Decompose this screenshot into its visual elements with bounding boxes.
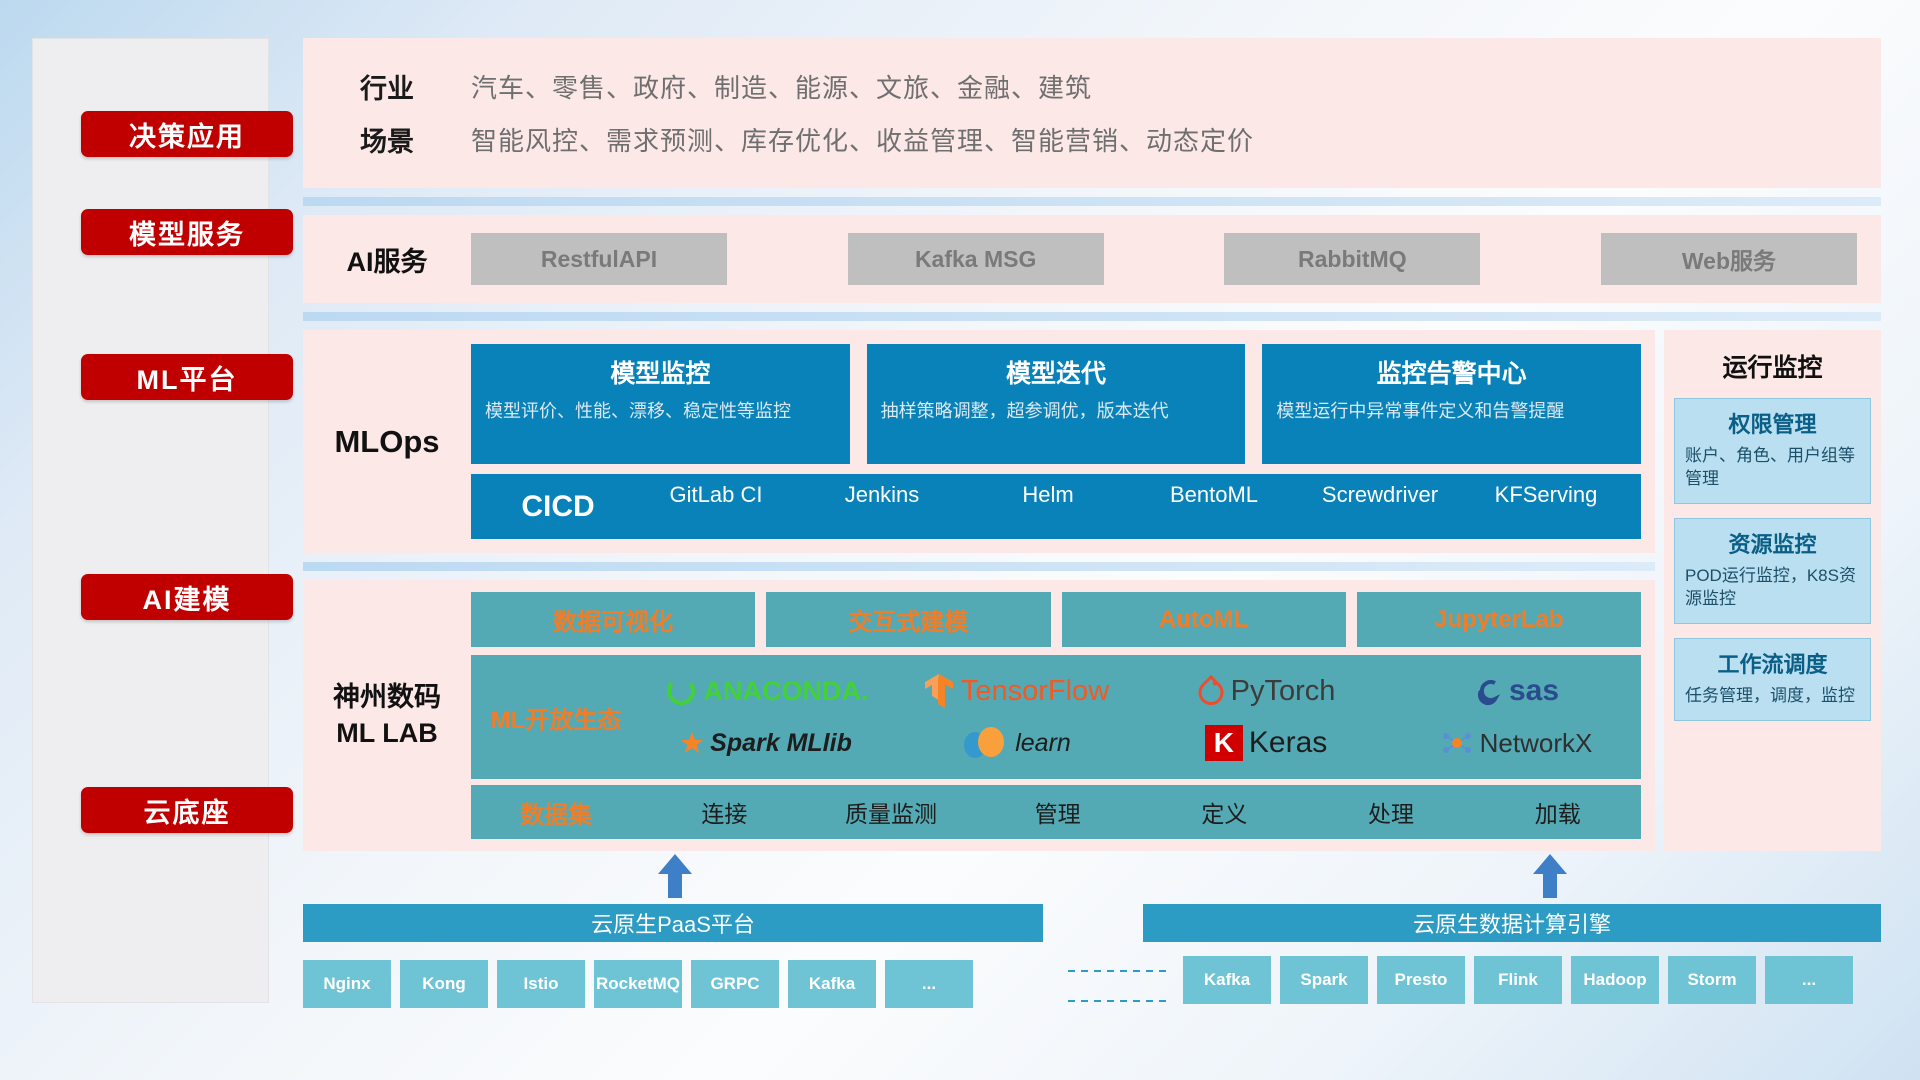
- pytorch-logo: PyTorch: [1197, 665, 1336, 717]
- tab-data-visualization[interactable]: 数据可视化: [471, 592, 755, 647]
- card-title: 监控告警中心: [1276, 354, 1627, 390]
- scenario-label: 场景: [303, 120, 471, 159]
- rail-badge-label: ML平台: [137, 358, 238, 397]
- arrow-up-right-icon: [1533, 854, 1567, 898]
- mlops-card-list: 模型监控 模型评价、性能、漂移、稳定性等监控 模型迭代 抽样策略调整，超参调优，…: [471, 344, 1641, 464]
- monitor-card-permission[interactable]: 权限管理 账户、角色、用户组等管理: [1674, 398, 1871, 504]
- ml-lab-tab-list: 数据可视化 交互式建模 AutoML JupyterLab: [471, 592, 1641, 647]
- cicd-item[interactable]: Screwdriver: [1297, 483, 1463, 531]
- rail-badge-label: 模型服务: [129, 213, 245, 252]
- mlops-card-alert-center[interactable]: 监控告警中心 模型运行中异常事件定义和告警提醒: [1262, 344, 1641, 464]
- dataset-item[interactable]: 连接: [641, 795, 808, 829]
- card-desc: 任务管理，调度，监控: [1685, 685, 1860, 708]
- cloud-foundation-section: 云原生PaaS平台 云原生数据计算引擎 Nginx Kong Istio Roc…: [303, 884, 1881, 1044]
- ml-lab-label-line2: ML LAB: [303, 716, 471, 751]
- card-title: 权限管理: [1685, 407, 1860, 439]
- networkx-label: NetworkX: [1480, 728, 1593, 759]
- cicd-item[interactable]: Helm: [965, 483, 1131, 531]
- card-title: 模型迭代: [881, 354, 1232, 390]
- tab-jupyterlab[interactable]: JupyterLab: [1357, 592, 1641, 647]
- band-divider: [303, 197, 1881, 206]
- bidirectional-connector: [1068, 970, 1168, 1002]
- layer-label-rail: 决策应用 模型服务 ML平台 AI建模 云底座: [32, 38, 269, 1003]
- sas-label: sas: [1509, 674, 1559, 708]
- monitor-card-workflow[interactable]: 工作流调度 任务管理，调度，监控: [1674, 638, 1871, 721]
- cloud-chip-nginx[interactable]: Nginx: [303, 960, 391, 1008]
- ml-lab-label: 神州数码 ML LAB: [303, 680, 471, 750]
- rail-badge-label: 云底座: [144, 791, 231, 830]
- rail-badge-decision[interactable]: 决策应用: [81, 111, 293, 157]
- ai-service-chip[interactable]: RabbitMQ: [1224, 233, 1480, 285]
- ai-service-chip[interactable]: Web服务: [1601, 233, 1857, 285]
- ai-service-chip[interactable]: Kafka MSG: [848, 233, 1104, 285]
- mlops-card-model-iteration[interactable]: 模型迭代 抽样策略调整，超参调优，版本迭代: [867, 344, 1246, 464]
- platform-left: MLOps 模型监控 模型评价、性能、漂移、稳定性等监控 模型迭代 抽样策略调整…: [303, 330, 1655, 851]
- cicd-item-list: GitLab CI Jenkins Helm BentoML Screwdriv…: [633, 483, 1629, 531]
- dataset-item[interactable]: 管理: [974, 795, 1141, 829]
- anaconda-label: ANACONDA.: [704, 676, 869, 707]
- cicd-item[interactable]: GitLab CI: [633, 483, 799, 531]
- ml-lab-label-line1: 神州数码: [303, 680, 471, 715]
- main-column: 行业 汽车、零售、政府、制造、能源、文旅、金融、建筑 场景 智能风控、需求预测、…: [303, 38, 1881, 851]
- dataset-label: 数据集: [471, 795, 641, 830]
- card-desc: 抽样策略调整，超参调优，版本迭代: [881, 399, 1232, 423]
- compute-chip-spark[interactable]: Spark: [1280, 956, 1368, 1004]
- cloud-chip-kong[interactable]: Kong: [400, 960, 488, 1008]
- mlops-band: MLOps 模型监控 模型评价、性能、漂移、稳定性等监控 模型迭代 抽样策略调整…: [303, 330, 1655, 553]
- cicd-item[interactable]: BentoML: [1131, 483, 1297, 531]
- compute-chip-list: Kafka Spark Presto Flink Hadoop Storm ..…: [1183, 956, 1853, 1004]
- dataset-item[interactable]: 处理: [1308, 795, 1475, 829]
- ai-service-chip[interactable]: RestfulAPI: [471, 233, 727, 285]
- tab-interactive-modeling[interactable]: 交互式建模: [766, 592, 1050, 647]
- scenario-row: 场景 智能风控、需求预测、库存优化、收益管理、智能营销、动态定价: [303, 113, 1881, 166]
- ai-modeling-body: 数据可视化 交互式建模 AutoML JupyterLab ML开放生态: [471, 592, 1655, 839]
- mlops-label: MLOps: [303, 424, 471, 460]
- pytorch-label: PyTorch: [1231, 675, 1336, 708]
- ml-ecosystem-logo-grid: ANACONDA. TensorFlow: [641, 665, 1641, 769]
- industry-value: 汽车、零售、政府、制造、能源、文旅、金融、建筑: [471, 68, 1092, 105]
- band-divider: [303, 312, 1881, 321]
- spark-mllib-logo: Spark MLlib: [680, 717, 852, 769]
- scenario-value: 智能风控、需求预测、库存优化、收益管理、智能营销、动态定价: [471, 121, 1254, 158]
- ai-service-band: AI服务 RestfulAPI Kafka MSG RabbitMQ Web服务: [303, 215, 1881, 303]
- connector-line-top: [1068, 970, 1168, 972]
- cicd-row: CICD GitLab CI Jenkins Helm BentoML Scre…: [471, 474, 1641, 539]
- tensorflow-label: TensorFlow: [961, 675, 1109, 708]
- rail-badge-label: AI建模: [143, 578, 232, 617]
- compute-chip-flink[interactable]: Flink: [1474, 956, 1562, 1004]
- card-desc: 账户、角色、用户组等管理: [1685, 445, 1860, 491]
- compute-chip-hadoop[interactable]: Hadoop: [1571, 956, 1659, 1004]
- compute-chip-more[interactable]: ...: [1765, 956, 1853, 1004]
- rail-badge-ai-modeling[interactable]: AI建模: [81, 574, 293, 620]
- data-compute-engine-bar[interactable]: 云原生数据计算引擎: [1143, 904, 1881, 942]
- ml-ecosystem-title: ML开放生态: [471, 700, 641, 735]
- card-title: 工作流调度: [1685, 647, 1860, 679]
- tensorflow-logo: TensorFlow: [923, 665, 1109, 717]
- card-desc: POD运行监控，K8S资源监控: [1685, 565, 1860, 611]
- tab-automl[interactable]: AutoML: [1062, 592, 1346, 647]
- architecture-diagram: 决策应用 模型服务 ML平台 AI建模 云底座 行业 汽车、零售、政府、制造、能…: [0, 0, 1920, 1080]
- cicd-item[interactable]: KFServing: [1463, 483, 1629, 531]
- band-divider: [303, 562, 1655, 571]
- keras-mark: K: [1205, 725, 1243, 761]
- paas-chip-list: Nginx Kong Istio RocketMQ GRPC Kafka ...: [303, 960, 973, 1008]
- scikit-learn-logo: learn: [961, 717, 1071, 769]
- industry-label: 行业: [303, 67, 471, 106]
- platform-section: MLOps 模型监控 模型评价、性能、漂移、稳定性等监控 模型迭代 抽样策略调整…: [303, 330, 1881, 851]
- cloud-chip-rocketmq[interactable]: RocketMQ: [594, 960, 682, 1008]
- card-desc: 模型评价、性能、漂移、稳定性等监控: [485, 399, 836, 423]
- connector-line-bottom: [1068, 1000, 1168, 1002]
- card-desc: 模型运行中异常事件定义和告警提醒: [1276, 399, 1627, 423]
- keras-label: Keras: [1249, 726, 1327, 760]
- cloud-chip-more[interactable]: ...: [885, 960, 973, 1008]
- cloud-chip-grpc[interactable]: GRPC: [691, 960, 779, 1008]
- mlops-card-model-monitoring[interactable]: 模型监控 模型评价、性能、漂移、稳定性等监控: [471, 344, 850, 464]
- runtime-monitor-column: 运行监控 权限管理 账户、角色、用户组等管理 资源监控 POD运行监控，K8S资…: [1664, 330, 1881, 851]
- cicd-label: CICD: [483, 490, 633, 524]
- networkx-logo: NetworkX: [1440, 717, 1593, 769]
- runtime-monitor-title: 运行监控: [1674, 348, 1871, 384]
- rail-badge-ml-platform[interactable]: ML平台: [81, 354, 293, 400]
- dataset-item[interactable]: 质量监测: [808, 795, 975, 829]
- monitor-card-resource[interactable]: 资源监控 POD运行监控，K8S资源监控: [1674, 518, 1871, 624]
- runtime-monitor-panel: 运行监控 权限管理 账户、角色、用户组等管理 资源监控 POD运行监控，K8S资…: [1664, 330, 1881, 851]
- ai-service-chip-list: RestfulAPI Kafka MSG RabbitMQ Web服务: [471, 233, 1881, 285]
- compute-chip-storm[interactable]: Storm: [1668, 956, 1756, 1004]
- cloud-chip-istio[interactable]: Istio: [497, 960, 585, 1008]
- scikit-learn-label: learn: [1015, 729, 1071, 758]
- industry-row: 行业 汽车、零售、政府、制造、能源、文旅、金融、建筑: [303, 60, 1881, 113]
- rail-badge-label: 决策应用: [129, 115, 245, 154]
- card-title: 资源监控: [1685, 527, 1860, 559]
- industry-scenario-band: 行业 汽车、零售、政府、制造、能源、文旅、金融、建筑 场景 智能风控、需求预测、…: [303, 38, 1881, 188]
- ai-modeling-band: 神州数码 ML LAB 数据可视化 交互式建模 AutoML JupyterLa…: [303, 580, 1655, 851]
- dataset-row: 数据集 连接 质量监测 管理 定义 处理 加载: [471, 785, 1641, 839]
- sas-logo: sas: [1473, 665, 1559, 717]
- dataset-item[interactable]: 加载: [1474, 795, 1641, 829]
- arrow-up-left-icon: [658, 854, 692, 898]
- compute-chip-kafka[interactable]: Kafka: [1183, 956, 1271, 1004]
- rail-badge-cloud-base[interactable]: 云底座: [81, 787, 293, 833]
- cicd-item[interactable]: Jenkins: [799, 483, 965, 531]
- card-title: 模型监控: [485, 354, 836, 390]
- ai-service-label: AI服务: [303, 240, 471, 279]
- rail-badge-model-service[interactable]: 模型服务: [81, 209, 293, 255]
- anaconda-logo: ANACONDA.: [664, 665, 869, 717]
- cloud-chip-kafka[interactable]: Kafka: [788, 960, 876, 1008]
- mlops-body: 模型监控 模型评价、性能、漂移、稳定性等监控 模型迭代 抽样策略调整，超参调优，…: [471, 344, 1655, 539]
- ml-ecosystem-row: ML开放生态 ANACONDA.: [471, 655, 1641, 779]
- dataset-item[interactable]: 定义: [1141, 795, 1308, 829]
- paas-platform-bar[interactable]: 云原生PaaS平台: [303, 904, 1043, 942]
- keras-logo: K Keras: [1205, 717, 1328, 769]
- compute-chip-presto[interactable]: Presto: [1377, 956, 1465, 1004]
- spark-mllib-label: Spark MLlib: [710, 729, 852, 758]
